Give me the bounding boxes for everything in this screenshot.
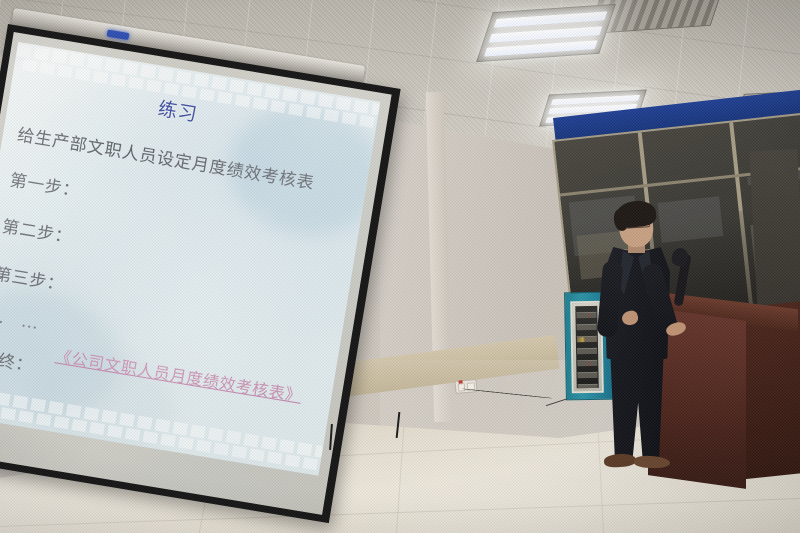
presenter-shoe (604, 453, 637, 468)
slide-body-line: 第二步： (1, 212, 75, 248)
slide-text-block: 练习 给生产部文职人员设定月度绩效考核表 第一步： 第二步： 第三步： … … … (0, 41, 381, 475)
screen-surface: 练习 给生产部文职人员设定月度绩效考核表 第一步： 第二步： 第三步： … … … (0, 32, 392, 515)
photo-scene: 练习 给生产部文职人员设定月度绩效考核表 第一步： 第二步： 第三步： … … … (0, 0, 800, 533)
slide-body-line: 第一步： (8, 165, 82, 201)
screen-frame: 练习 给生产部文职人员设定月度绩效考核表 第一步： 第二步： 第三步： … … … (0, 24, 401, 523)
slide-hyperlink[interactable]: 《公司文职人员月度绩效考核表》 (54, 342, 304, 406)
projected-slide: 练习 给生产部文职人员设定月度绩效考核表 第一步： 第二步： 第三步： … … … (0, 41, 381, 475)
presenter (592, 205, 682, 475)
wall-power-socket[interactable] (454, 379, 477, 394)
roller-indicator-icon (107, 30, 130, 40)
slide-ellipsis: … … (0, 306, 46, 335)
slide-final-label: 最终： (0, 343, 35, 376)
slide-body-line: 第三步： (0, 259, 67, 295)
presenter-shoe (634, 455, 670, 468)
slide-title: 练习 (156, 94, 199, 127)
presenter-legs (608, 353, 666, 461)
ceiling-light-panel (476, 4, 616, 62)
projection-screen[interactable]: 练习 给生产部文职人员设定月度绩效考核表 第一步： 第二步： 第三步： … … … (8, 24, 428, 494)
